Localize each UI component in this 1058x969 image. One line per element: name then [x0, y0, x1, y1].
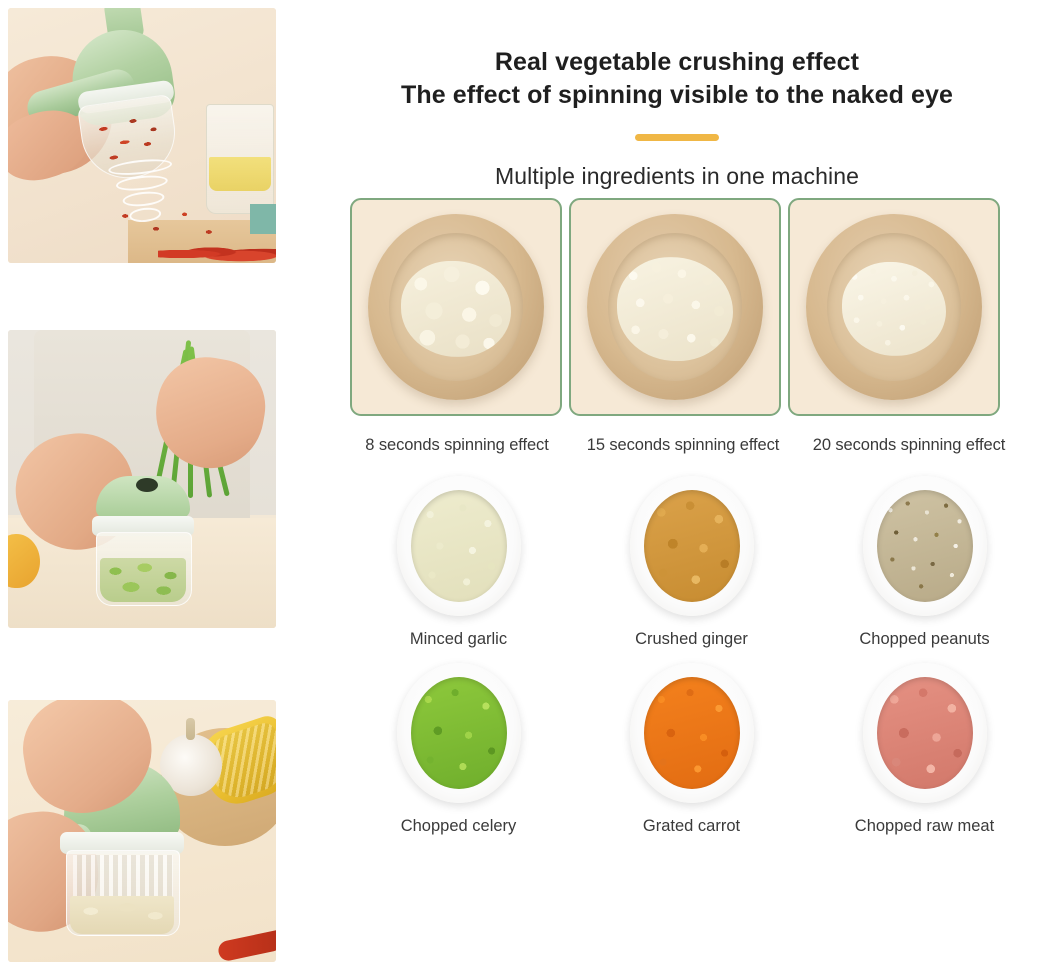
chopped-chives-in-jar — [100, 558, 186, 602]
chopper-garlic-corn-photo — [8, 700, 276, 962]
minced-garlic-in-jar — [70, 896, 174, 934]
feed-hole — [136, 478, 158, 492]
bowl — [630, 663, 754, 803]
bowl-cell-chopped-celery: Chopped celery — [342, 663, 575, 836]
falling-chili-pieces — [112, 204, 222, 244]
bowl-cell-chopped-peanuts: Chopped peanuts — [808, 476, 1041, 649]
bowl-label: Minced garlic — [410, 630, 507, 649]
ingredient-bowls-grid: Minced garlic Crushed ginger Chopped pea… — [342, 476, 1042, 836]
spinning-caption-15s: 15 seconds spinning effect — [570, 436, 796, 455]
bowl-label: Chopped peanuts — [859, 630, 989, 649]
bowl-row-2: Chopped celery Grated carrot Chopped raw… — [342, 663, 1042, 836]
chopped-peanuts-contents — [877, 490, 973, 602]
spinning-card-20s — [788, 198, 1000, 416]
bowl — [630, 476, 754, 616]
bowl-label: Grated carrot — [643, 817, 740, 836]
bowl — [863, 663, 987, 803]
spinning-effect-cards — [350, 198, 1000, 416]
subheading: Multiple ingredients in one machine — [296, 163, 1058, 190]
chopped-celery-contents — [411, 677, 507, 789]
bowl — [397, 663, 521, 803]
chili-pile — [158, 244, 276, 263]
bowl-cell-grated-carrot: Grated carrot — [575, 663, 808, 836]
grated-carrot-contents — [644, 677, 740, 789]
crushed-ginger-contents — [644, 490, 740, 602]
spinning-card-captions: 8 seconds spinning effect 15 seconds spi… — [344, 436, 1024, 455]
spinning-card-15s — [569, 198, 781, 416]
bowl — [863, 476, 987, 616]
product-photo-column — [8, 8, 276, 962]
minced-garlic-coarse — [401, 261, 511, 357]
drinking-glass — [206, 104, 274, 214]
info-panel: Real vegetable crushing effect The effec… — [296, 0, 1058, 969]
bowl-label: Chopped raw meat — [855, 817, 994, 836]
chopper-chili-photo — [8, 8, 276, 263]
chopper-chives-photo — [8, 330, 276, 628]
bowl-cell-chopped-raw-meat: Chopped raw meat — [808, 663, 1041, 836]
product-infographic: Real vegetable crushing effect The effec… — [0, 0, 1058, 969]
bowl-cell-minced-garlic: Minced garlic — [342, 476, 575, 649]
heading-line-1: Real vegetable crushing effect — [296, 46, 1058, 79]
bowl-cell-crushed-ginger: Crushed ginger — [575, 476, 808, 649]
headings-block: Real vegetable crushing effect The effec… — [296, 0, 1058, 190]
bowl-row-1: Minced garlic Crushed ginger Chopped pea… — [342, 476, 1042, 649]
spinning-caption-8s: 8 seconds spinning effect — [344, 436, 570, 455]
bowl-label: Crushed ginger — [635, 630, 748, 649]
heading-divider — [635, 134, 719, 141]
bowl-label: Chopped celery — [401, 817, 517, 836]
bowl — [397, 476, 521, 616]
heading-line-2: The effect of spinning visible to the na… — [296, 79, 1058, 112]
teal-object — [250, 204, 276, 234]
chopped-raw-meat-contents — [877, 677, 973, 789]
spinning-caption-20s: 20 seconds spinning effect — [796, 436, 1022, 455]
minced-garlic-fine — [842, 262, 946, 356]
spinning-card-8s — [350, 198, 562, 416]
minced-garlic-contents — [411, 490, 507, 602]
